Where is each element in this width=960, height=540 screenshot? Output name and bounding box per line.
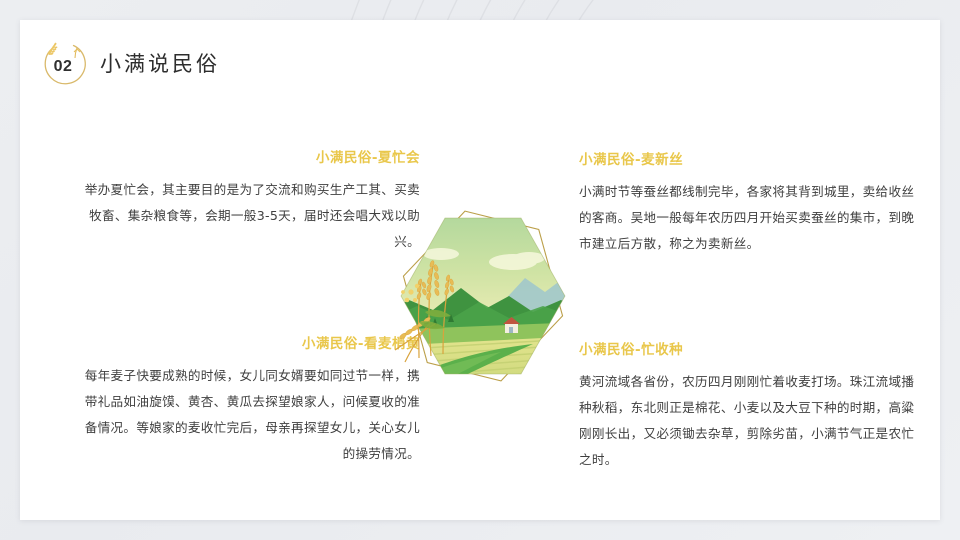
block-kanmaishaohuang: 小满民俗-看麦梢黄 每年麦子快要成熟的时候，女儿同女婿要如同过节一样，携带礼品如… (76, 332, 420, 467)
block-xiamanghui: 小满民俗-夏忙会 举办夏忙会，其主要目的是为了交流和购买生产工其、买卖牧畜、集杂… (83, 146, 420, 255)
slide-surface: 02 小满说民俗 小满民俗-夏忙会 举办夏忙会，其主要目的是为了交流和购买生产工… (20, 20, 940, 520)
block-body: 每年麦子快要成熟的时候，女儿同女婿要如同过节一样，携带礼品如油旋馍、黄杏、黄瓜去… (76, 363, 420, 467)
block-heading: 小满民俗-忙收种 (579, 338, 923, 358)
block-body: 黄河流域各省份，农历四月刚刚忙着收麦打场。珠江流域播种秋稻，东北则正是棉花、小麦… (579, 369, 923, 473)
block-heading: 小满民俗-看麦梢黄 (76, 332, 420, 352)
section-number-badge: 02 (36, 36, 90, 90)
block-heading: 小满民俗-夏忙会 (83, 146, 420, 166)
page-title: 小满说民俗 (100, 48, 220, 78)
block-heading: 小满民俗-麦新丝 (579, 148, 920, 168)
landscape-scene (383, 196, 583, 396)
block-body: 小满时节等蚕丝都线制完毕，各家将其背到城里，卖给收丝的客商。吴地一般每年农历四月… (579, 179, 920, 257)
section-number: 02 (36, 36, 90, 90)
hexagon-farmland-illustration (383, 196, 583, 396)
block-mangshouzhong: 小满民俗-忙收种 黄河流域各省份，农历四月刚刚忙着收麦打场。珠江流域播种秋稻，东… (579, 338, 923, 473)
slide-canvas: 02 小满说民俗 小满民俗-夏忙会 举办夏忙会，其主要目的是为了交流和购买生产工… (0, 0, 960, 540)
slide-header: 02 小满说民俗 (36, 36, 220, 90)
block-body: 举办夏忙会，其主要目的是为了交流和购买生产工其、买卖牧畜、集杂粮食等，会期一般3… (83, 177, 420, 255)
block-maixinsi: 小满民俗-麦新丝 小满时节等蚕丝都线制完毕，各家将其背到城里，卖给收丝的客商。吴… (579, 148, 920, 257)
